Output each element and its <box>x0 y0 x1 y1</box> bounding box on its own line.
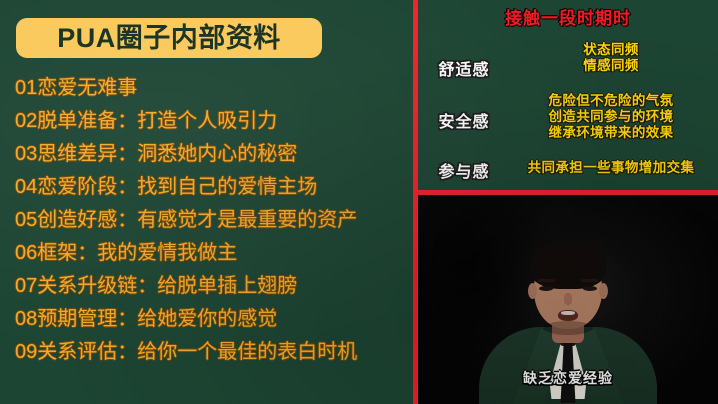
topic-subtitle: 有感觉才是最重要的资产 <box>137 209 357 231</box>
badge-comfort: 舒适感 <box>428 56 500 80</box>
page-title: PUA圈子内部资料 <box>57 25 281 52</box>
topic-list: 01恋爱无难事 02脱单准备：打造个人吸引力 03思维差异：洞悉她内心的秘密 0… <box>15 72 415 369</box>
topic-subtitle: 给脱单插上翅膀 <box>157 275 297 297</box>
course-outline-panel: PUA圈子内部资料 01恋爱无难事 02脱单准备：打造个人吸引力 03思维差异：… <box>0 0 413 404</box>
detail-line: 共同承担一些事物增加交集 <box>496 160 718 176</box>
detail-line: 情感同频 <box>504 58 718 74</box>
topic-number: 04 <box>15 176 37 198</box>
video-player-panel[interactable]: 缺乏恋爱经验 <box>418 190 718 404</box>
detail-safety: 危险但不危险的气氛 创造共同参与的环境 继承环境带来的效果 <box>504 93 718 141</box>
topic-number: 08 <box>15 308 37 330</box>
eye-right <box>583 286 597 291</box>
topic-separator: ： <box>77 242 97 264</box>
list-item: 07关系升级链：给脱单插上翅膀 <box>15 270 415 303</box>
detail-participation: 共同承担一些事物增加交集 <box>496 160 718 176</box>
video-frame[interactable]: 缺乏恋爱经验 <box>418 195 718 404</box>
eye-left <box>539 286 553 291</box>
topic-title: 恋爱阶段 <box>37 176 117 198</box>
detail-line: 继承环境带来的效果 <box>504 125 718 141</box>
topic-title: 框架 <box>37 242 77 264</box>
topic-separator: ： <box>137 275 157 297</box>
badge-safety: 安全感 <box>428 108 500 132</box>
topic-subtitle: 打造个人吸引力 <box>137 110 277 132</box>
detail-line: 创造共同参与的环境 <box>504 109 718 125</box>
topic-subtitle: 给她爱你的感觉 <box>137 308 277 330</box>
topic-subtitle: 洞悉她内心的秘密 <box>137 143 297 165</box>
topic-separator: ： <box>117 308 137 330</box>
list-item: 01恋爱无难事 <box>15 72 415 105</box>
list-item: 02脱单准备：打造个人吸引力 <box>15 105 415 138</box>
topic-separator: ： <box>117 341 137 363</box>
topic-number: 07 <box>15 275 37 297</box>
topic-title: 脱单准备 <box>37 110 117 132</box>
topic-subtitle: 我的爱情我做主 <box>97 242 237 264</box>
eyebrow-left <box>538 279 555 282</box>
topic-title: 思维差异 <box>37 143 117 165</box>
topic-title: 预期管理 <box>37 308 117 330</box>
topic-subtitle: 给你一个最佳的表白时机 <box>137 341 357 363</box>
topic-separator: ： <box>117 209 137 231</box>
video-subtitle: 缺乏恋爱经验 <box>418 368 718 388</box>
topic-title: 关系评估 <box>37 341 117 363</box>
chin-shadow <box>543 321 593 335</box>
list-item: 05创造好感：有感觉才是最重要的资产 <box>15 204 415 237</box>
topic-number: 09 <box>15 341 37 363</box>
badge-participation: 参与感 <box>428 158 500 182</box>
section-heading: 接触一段时期时 <box>418 4 718 29</box>
mouth <box>558 310 578 321</box>
ear-right <box>599 283 608 299</box>
topic-number: 05 <box>15 209 37 231</box>
concepts-panel: 接触一段时期时 舒适感 安全感 参与感 状态同频 情感同频 危险但不危险的气氛 … <box>418 0 718 190</box>
topic-number: 02 <box>15 110 37 132</box>
topic-number: 01 <box>15 77 37 99</box>
topic-number: 03 <box>15 143 37 165</box>
topic-number: 06 <box>15 242 37 264</box>
topic-title: 恋爱无难事 <box>37 77 137 99</box>
detail-line: 状态同频 <box>504 42 718 58</box>
topic-title: 关系升级链 <box>37 275 137 297</box>
slide-canvas: PUA圈子内部资料 01恋爱无难事 02脱单准备：打造个人吸引力 03思维差异：… <box>0 0 718 404</box>
ear-left <box>528 283 537 299</box>
list-item: 03思维差异：洞悉她内心的秘密 <box>15 138 415 171</box>
topic-separator: ： <box>117 176 137 198</box>
topic-separator: ： <box>117 110 137 132</box>
eyebrow-right <box>581 279 598 282</box>
nose <box>564 293 572 305</box>
list-item: 08预期管理：给她爱你的感觉 <box>15 303 415 336</box>
topic-subtitle: 找到自己的爱情主场 <box>137 176 317 198</box>
title-banner: PUA圈子内部资料 <box>16 18 322 58</box>
detail-line: 危险但不危险的气氛 <box>504 93 718 109</box>
list-item: 04恋爱阶段：找到自己的爱情主场 <box>15 171 415 204</box>
list-item: 09关系评估：给你一个最佳的表白时机 <box>15 336 415 369</box>
topic-separator: ： <box>117 143 137 165</box>
detail-comfort: 状态同频 情感同频 <box>504 42 718 74</box>
topic-title: 创造好感 <box>37 209 117 231</box>
list-item: 06框架：我的爱情我做主 <box>15 237 415 270</box>
